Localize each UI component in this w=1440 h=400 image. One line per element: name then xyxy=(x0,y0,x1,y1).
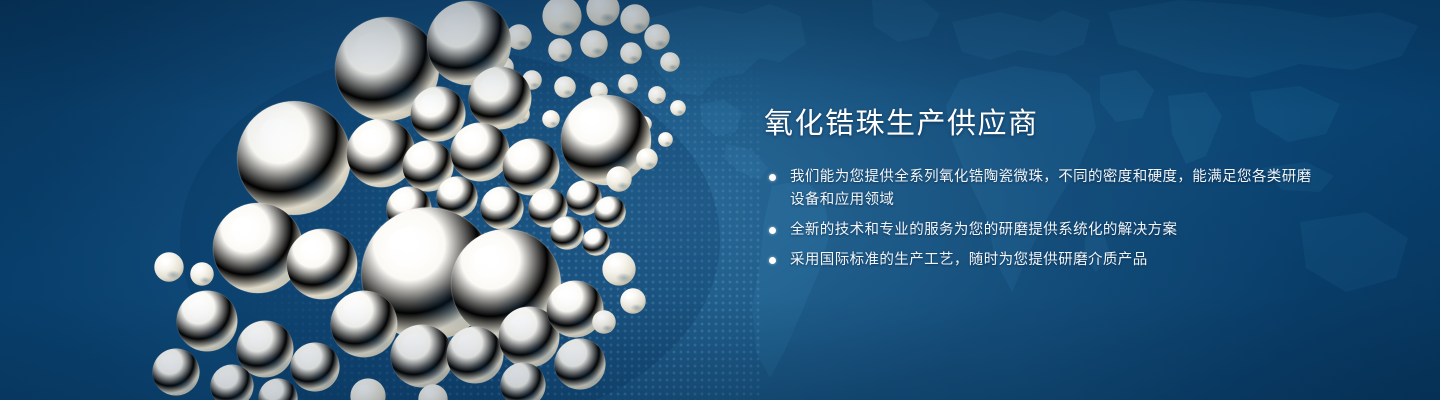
bullet-dot-icon xyxy=(769,257,776,264)
banner-feature-list: 我们能为您提供全系列氧化锆陶瓷微珠，不同的密度和硬度，能满足您各类研磨设备和应用… xyxy=(762,166,1322,272)
feature-item: 全新的技术和专业的服务为您的研磨提供系统化的解决方案 xyxy=(762,219,1322,242)
feature-item: 采用国际标准的生产工艺，随时为您提供研磨介质产品 xyxy=(762,249,1322,272)
hero-banner: 氧化锆珠生产供应商 我们能为您提供全系列氧化锆陶瓷微珠，不同的密度和硬度，能满足… xyxy=(0,0,1440,400)
feature-item: 我们能为您提供全系列氧化锆陶瓷微珠，不同的密度和硬度，能满足您各类研磨设备和应用… xyxy=(762,166,1322,212)
feature-item-text: 全新的技术和专业的服务为您的研磨提供系统化的解决方案 xyxy=(790,219,1322,242)
bullet-dot-icon xyxy=(769,227,776,234)
banner-copy: 氧化锆珠生产供应商 我们能为您提供全系列氧化锆陶瓷微珠，不同的密度和硬度，能满足… xyxy=(762,104,1322,272)
banner-headline: 氧化锆珠生产供应商 xyxy=(764,104,1322,144)
feature-item-text: 采用国际标准的生产工艺，随时为您提供研磨介质产品 xyxy=(790,249,1322,272)
feature-item-text: 我们能为您提供全系列氧化锆陶瓷微珠，不同的密度和硬度，能满足您各类研磨设备和应用… xyxy=(790,166,1322,212)
bullet-dot-icon xyxy=(769,174,776,181)
